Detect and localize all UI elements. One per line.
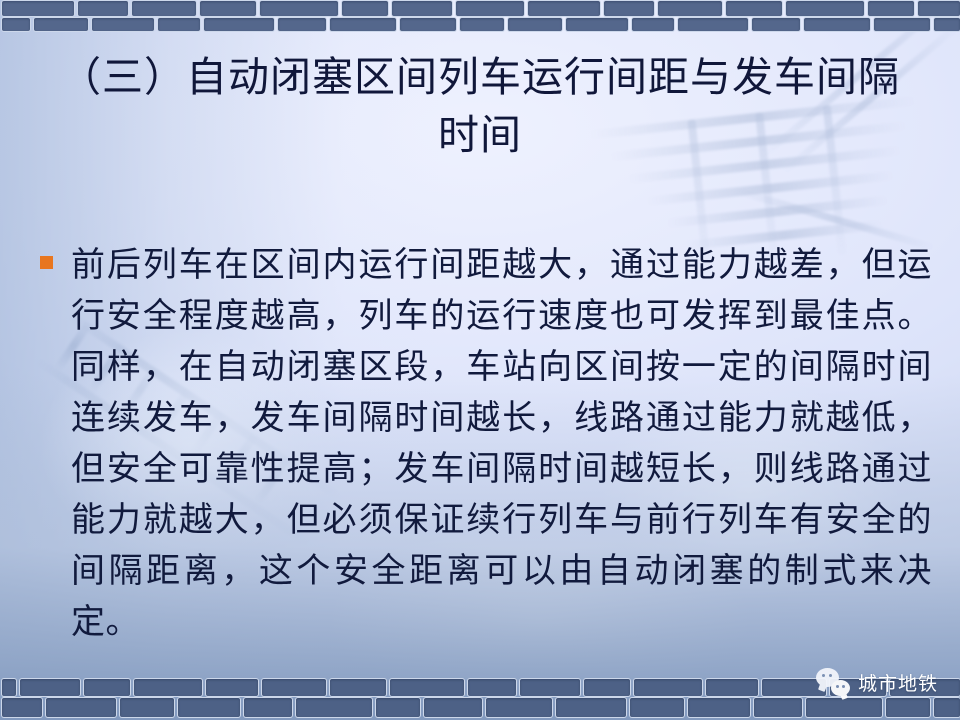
brick: [753, 697, 803, 718]
brick: [633, 678, 703, 697]
brick: [917, 0, 960, 17]
brick: [933, 17, 960, 32]
brick: [873, 17, 931, 32]
brick: [1, 0, 75, 17]
brick: [507, 17, 563, 32]
brick: [677, 17, 749, 32]
brick: [341, 0, 389, 17]
brick: [295, 697, 373, 718]
brick: [423, 697, 483, 718]
brick: [555, 697, 627, 718]
brick: [157, 17, 201, 32]
brick: [259, 0, 339, 17]
brick: [277, 17, 327, 32]
brick: [203, 17, 275, 32]
body-paragraph: 前后列车在区间内运行间距越大，通过能力越差，但运行安全程度越高，列车的运行速度也…: [71, 240, 932, 648]
brick: [725, 0, 783, 17]
brick: [805, 697, 883, 718]
brick: [629, 697, 685, 718]
brick: [389, 678, 465, 697]
brick: [583, 678, 631, 697]
brick: [1, 697, 43, 718]
brick: [933, 697, 960, 718]
square-bullet-icon: [40, 256, 53, 269]
watermark-label: 城市地铁: [858, 669, 938, 696]
brick: [131, 0, 197, 17]
brick: [467, 678, 517, 697]
brick: [455, 0, 525, 17]
brick: [391, 0, 453, 17]
brick: [77, 0, 129, 17]
brick: [375, 697, 421, 718]
brick: [399, 17, 457, 32]
brick: [119, 697, 175, 718]
brick: [1, 678, 17, 697]
slide-title-line-2: 时间: [28, 106, 932, 164]
brick: [83, 678, 131, 697]
body-bullet-block: 前后列车在区间内运行间距越大，通过能力越差，但运行安全程度越高，列车的运行速度也…: [34, 240, 932, 648]
brick: [527, 0, 601, 17]
brick: [1, 17, 31, 32]
watermark: 城市地铁: [816, 668, 938, 696]
brick: [519, 678, 581, 697]
brick: [91, 17, 155, 32]
slide-title: （三）自动闭塞区间列车运行间距与发车间隔 时间: [0, 48, 960, 164]
brick: [329, 678, 387, 697]
brick: [657, 0, 723, 17]
slide-title-line-1: （三）自动闭塞区间列车运行间距与发车间隔: [28, 48, 932, 106]
brick: [329, 17, 397, 32]
brick: [177, 697, 241, 718]
brick: [261, 678, 327, 697]
brick: [243, 697, 293, 718]
brick: [705, 678, 759, 697]
brick: [867, 0, 915, 17]
brick: [133, 678, 203, 697]
brick: [45, 697, 117, 718]
brick: [751, 17, 801, 32]
top-brick-band: [0, 0, 960, 36]
brick: [565, 17, 629, 32]
brick: [485, 697, 553, 718]
brick: [885, 697, 931, 718]
brick: [19, 678, 81, 697]
brick: [459, 17, 505, 32]
brick: [199, 0, 257, 17]
brick: [687, 697, 751, 718]
brick: [785, 0, 865, 17]
brick: [33, 17, 89, 32]
brick: [631, 17, 675, 32]
brick: [603, 0, 655, 17]
wechat-icon: [816, 668, 850, 696]
brick: [205, 678, 259, 697]
brick: [803, 17, 871, 32]
presentation-slide: （三）自动闭塞区间列车运行间距与发车间隔 时间 前后列车在区间内运行间距越大，通…: [0, 0, 960, 720]
